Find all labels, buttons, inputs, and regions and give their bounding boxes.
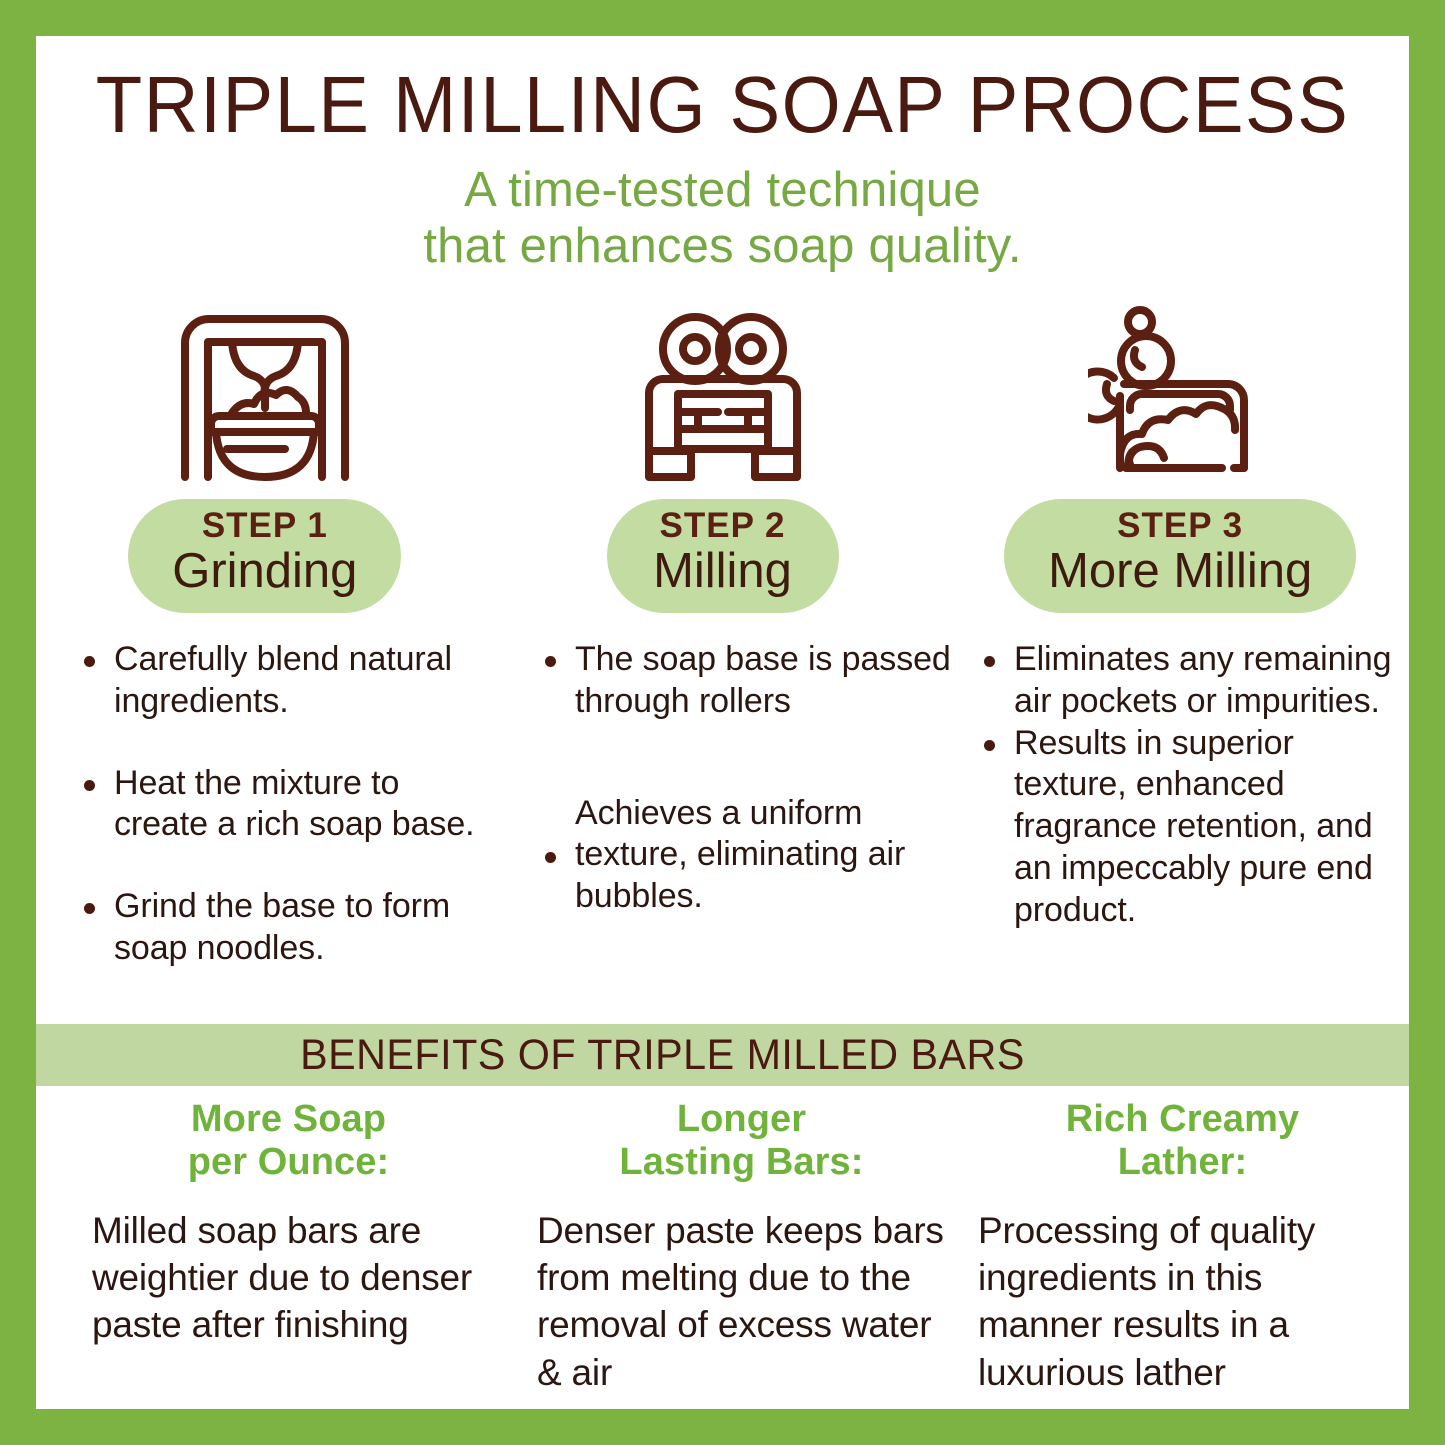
- header: TRIPLE MILLING SOAP PROCESS A time-teste…: [36, 36, 1409, 275]
- benefit-heading-1: More Soap per Ounce:: [84, 1098, 493, 1185]
- list-item: Results in superior texture, enhanced fr…: [974, 723, 1395, 932]
- poster-frame: TRIPLE MILLING SOAP PROCESS A time-teste…: [0, 0, 1445, 1445]
- bullet-dot-icon: [84, 903, 95, 914]
- bullet-list-3: Eliminates any remaining air pockets or …: [974, 639, 1395, 932]
- list-item: Grind the base to form soap noodles.: [74, 886, 495, 970]
- benefit-body-3: Processing of quality ingredients in thi…: [978, 1207, 1387, 1396]
- benefit-body-2: Denser paste keeps bars from melting due…: [537, 1207, 946, 1396]
- bullet-text: Eliminates any remaining air pockets or …: [1014, 640, 1391, 720]
- benefit-heading-line-2: Lather:: [978, 1141, 1387, 1184]
- subtitle-line-2: that enhances soap quality.: [36, 218, 1409, 275]
- step-number-label-3: STEP 3: [1048, 508, 1312, 545]
- benefit-column-3: Rich Creamy Lather: Processing of qualit…: [960, 1098, 1409, 1396]
- benefit-column-2: Longer Lasting Bars: Denser paste keeps …: [515, 1098, 960, 1396]
- step-number-label-2: STEP 2: [651, 508, 795, 545]
- soap-bar-bubbles-icon: [1088, 301, 1273, 491]
- bullet-text: Results in superior texture, enhanced fr…: [1014, 724, 1373, 929]
- bullet-dot-icon: [984, 656, 995, 667]
- list-item: Achieves a uniform texture, eliminating …: [535, 793, 956, 918]
- bullet-dot-icon: [984, 740, 995, 751]
- step-name-label-2: Milling: [651, 547, 795, 597]
- subtitle: A time-tested technique that enhances so…: [36, 162, 1409, 276]
- bullet-dot-icon: [84, 656, 95, 667]
- benefit-heading-3: Rich Creamy Lather:: [978, 1098, 1387, 1185]
- step-bullets-row: Carefully blend natural ingredients. Hea…: [36, 639, 1409, 1010]
- steps-row: STEP 1 Grinding: [36, 301, 1409, 613]
- list-item: The soap base is passed through rollers: [535, 639, 956, 723]
- benefit-heading-line-1: Longer: [537, 1098, 946, 1141]
- step-bullets-column-3: Eliminates any remaining air pockets or …: [966, 639, 1409, 932]
- benefit-heading-line-1: Rich Creamy: [978, 1098, 1387, 1141]
- page-title: TRIPLE MILLING SOAP PROCESS: [70, 64, 1374, 146]
- list-item: Eliminates any remaining air pockets or …: [974, 639, 1395, 723]
- step-name-label-1: Grinding: [172, 547, 357, 597]
- step-pill-2: STEP 2 Milling: [607, 499, 839, 613]
- list-item: Carefully blend natural ingredients.: [74, 639, 495, 723]
- list-item: Heat the mixture to create a rich soap b…: [74, 763, 495, 847]
- benefit-heading-2: Longer Lasting Bars:: [537, 1098, 946, 1185]
- poster-canvas: TRIPLE MILLING SOAP PROCESS A time-teste…: [36, 36, 1409, 1409]
- benefits-row: More Soap per Ounce: Milled soap bars ar…: [36, 1098, 1409, 1396]
- benefit-heading-line-2: Lasting Bars:: [537, 1141, 946, 1184]
- bullet-text: The soap base is passed through rollers: [575, 640, 951, 720]
- step-column-1: STEP 1 Grinding: [36, 301, 494, 613]
- step-pill-3: STEP 3 More Milling: [1004, 499, 1356, 613]
- bullet-text: Carefully blend natural ingredients.: [114, 640, 452, 720]
- bullet-text: Heat the mixture to create a rich soap b…: [114, 764, 474, 844]
- bullet-text: Achieves a uniform texture, eliminating …: [575, 794, 905, 916]
- benefit-heading-line-1: More Soap: [84, 1098, 493, 1141]
- benefit-heading-line-2: per Ounce:: [84, 1141, 493, 1184]
- bullet-list-1: Carefully blend natural ingredients. Hea…: [74, 639, 495, 970]
- step-column-2: STEP 2 Milling: [494, 301, 952, 613]
- step-bullets-column-2: The soap base is passed through rollers …: [517, 639, 966, 918]
- benefit-body-1: Milled soap bars are weightier due to de…: [84, 1207, 493, 1349]
- step-bullets-column-1: Carefully blend natural ingredients. Hea…: [36, 639, 517, 1010]
- bullet-text: Grind the base to form soap noodles.: [114, 887, 450, 967]
- bullet-dot-icon: [545, 852, 556, 863]
- benefit-column-1: More Soap per Ounce: Milled soap bars ar…: [36, 1098, 515, 1349]
- bullet-dot-icon: [545, 656, 556, 667]
- step-pill-1: STEP 1 Grinding: [128, 499, 401, 613]
- benefits-banner: BENEFITS OF TRIPLE MILLED BARS: [36, 1024, 1409, 1086]
- roller-mill-icon: [633, 301, 813, 491]
- bullet-dot-icon: [84, 780, 95, 791]
- step-column-3: STEP 3 More Milling: [951, 301, 1409, 613]
- bullet-list-2: The soap base is passed through rollers …: [535, 639, 956, 918]
- step-name-label-3: More Milling: [1048, 547, 1312, 597]
- subtitle-line-1: A time-tested technique: [36, 162, 1409, 219]
- benefits-banner-title: BENEFITS OF TRIPLE MILLED BARS: [300, 1031, 1025, 1080]
- step-number-label-1: STEP 1: [172, 508, 357, 545]
- grinder-bowl-icon: [175, 301, 355, 491]
